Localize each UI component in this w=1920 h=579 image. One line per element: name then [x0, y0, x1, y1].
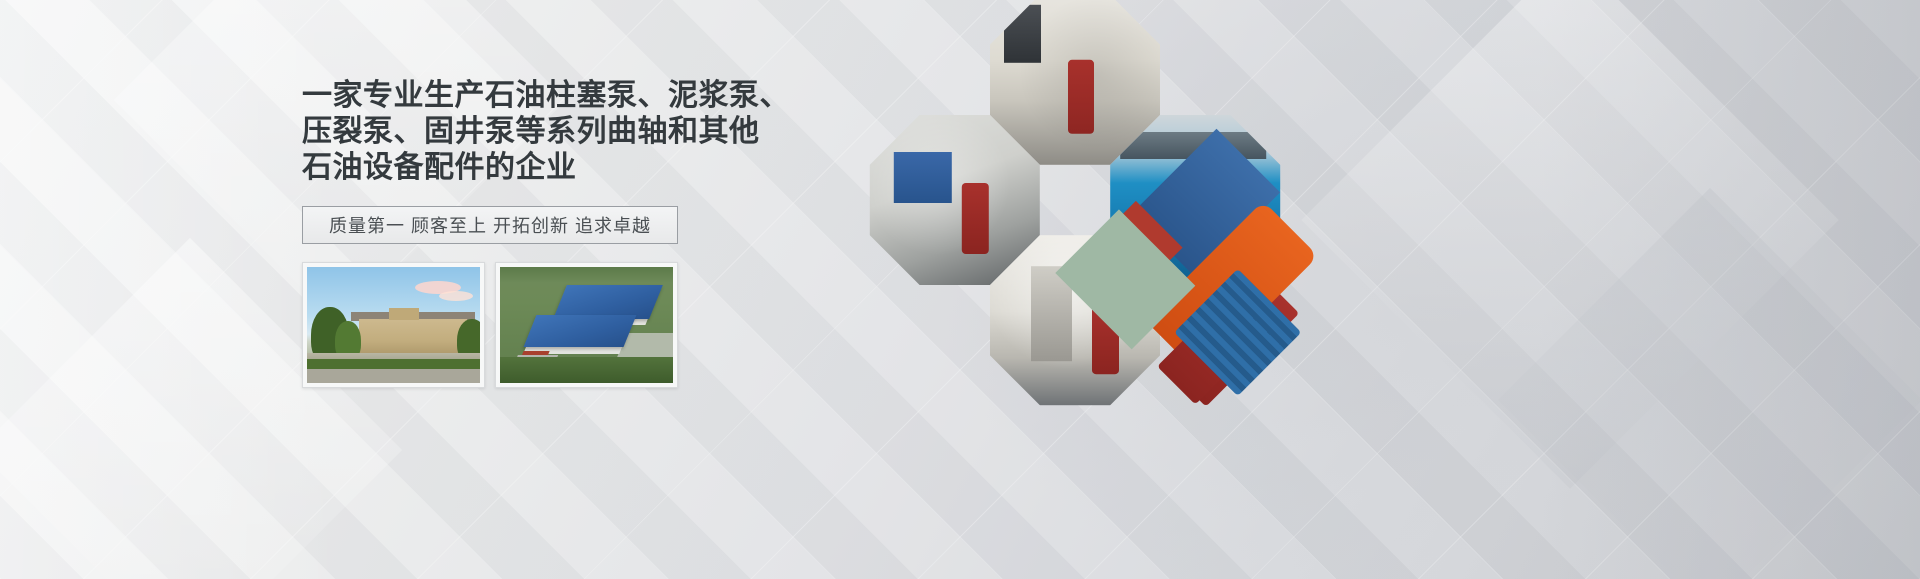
page-title: 一家专业生产石油柱塞泵、泥浆泵、 压裂泵、固井泵等系列曲轴和其他 石油设备配件的…: [302, 78, 722, 186]
headline-line-2: 压裂泵、固井泵等系列曲轴和其他: [302, 114, 722, 150]
thumbnail-row: [302, 262, 722, 388]
treeline-shape: [500, 267, 673, 283]
road-shape: [307, 369, 480, 383]
blue-roof-shape: [553, 285, 663, 319]
blue-roof-shape: [524, 315, 637, 347]
headline-line-3: 石油设备配件的企业: [302, 150, 722, 186]
background-facet-shape: [1498, 188, 1920, 579]
slogan-box: 质量第一 顾客至上 开拓创新 追求卓越: [302, 206, 678, 244]
cloud-shape: [439, 291, 473, 301]
office-building-photo[interactable]: [302, 262, 485, 388]
hero-banner: 一家专业生产石油柱塞泵、泥浆泵、 压裂泵、固井泵等系列曲轴和其他 石油设备配件的…: [0, 0, 1920, 579]
factory-aerial-photo[interactable]: [495, 262, 678, 388]
slogan-text: 质量第一 顾客至上 开拓创新 追求卓越: [329, 212, 651, 238]
treeline-shape: [500, 357, 673, 383]
banner-copy-block: 一家专业生产石油柱塞泵、泥浆泵、 压裂泵、固井泵等系列曲轴和其他 石油设备配件的…: [302, 78, 722, 388]
headline-line-1: 一家专业生产石油柱塞泵、泥浆泵、: [302, 78, 722, 114]
